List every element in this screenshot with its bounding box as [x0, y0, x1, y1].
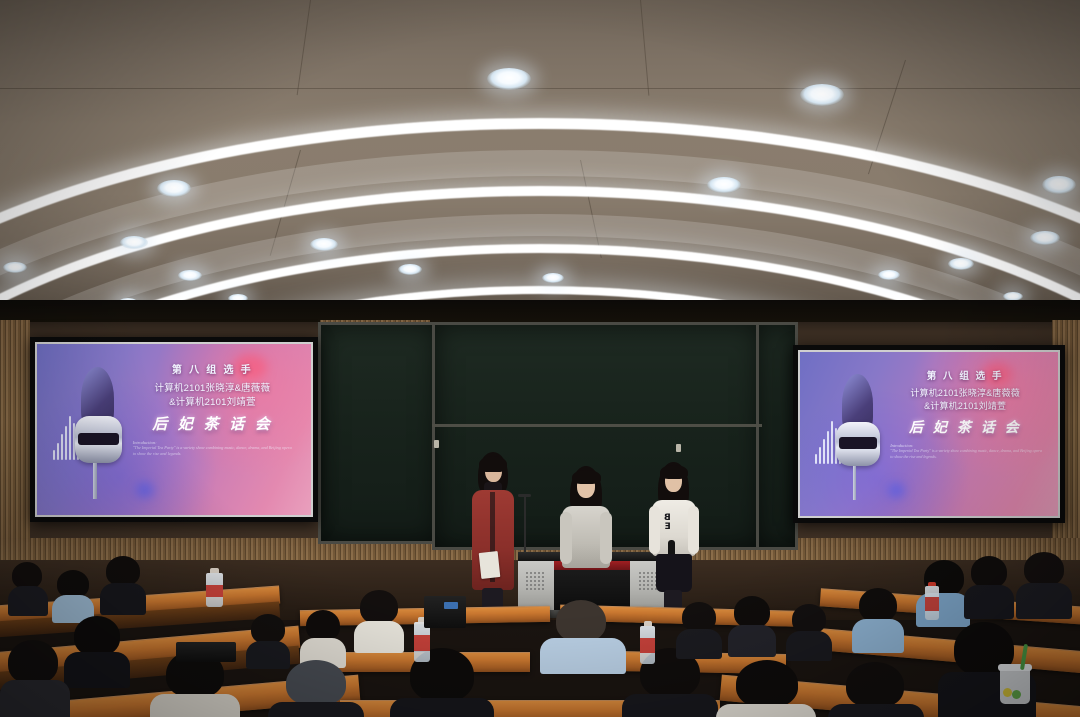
- ceiling: [0, 0, 1080, 312]
- presenter-center-arm: [560, 512, 572, 564]
- slide-calligraphy-title: 后 妃 茶 话 会: [122, 413, 303, 434]
- audience-member: [0, 640, 70, 717]
- bottle-cap: [928, 582, 936, 586]
- slide-heading: 第 八 组 选 手: [122, 361, 303, 376]
- recessed-downlight: [3, 262, 27, 273]
- bubble-tea-decal: [1003, 688, 1012, 697]
- slide-line-2: 计算机2101张晓淳&唐薇薇: [122, 380, 303, 394]
- audience-member: [964, 556, 1014, 618]
- wall-top-shadow-band: [0, 300, 1080, 322]
- water-bottle: [414, 622, 430, 662]
- bottle-label: [414, 635, 430, 651]
- presenter-right: BE: [648, 462, 700, 617]
- audience-body: [390, 698, 494, 717]
- presenter-right-sweater-graphic: BE: [664, 514, 671, 531]
- presenter-right-arm: [688, 506, 699, 554]
- slide-intro-body: "The Imperial Tea Party" is a variety sh…: [133, 445, 296, 457]
- audience-head: [286, 660, 346, 706]
- audience-body: [0, 680, 70, 717]
- speaker-box: [424, 596, 466, 628]
- lectern-vent: [525, 571, 546, 592]
- recessed-downlight: [487, 68, 531, 90]
- audience-member: [268, 660, 364, 717]
- audience-member: [828, 662, 924, 717]
- audience-body: [268, 702, 364, 717]
- audience-member: [676, 602, 722, 656]
- audience-head: [57, 570, 89, 598]
- recessed-downlight: [178, 270, 202, 281]
- audience-body: [676, 629, 722, 659]
- audience-head: [74, 616, 120, 656]
- audience-head: [106, 556, 140, 586]
- speaker-box: [176, 642, 236, 662]
- audience-member: [354, 590, 404, 650]
- slide-line-2: 计算机2101张晓淳&唐薇薇: [880, 386, 1050, 399]
- chalkboard-knob: [434, 440, 439, 448]
- recessed-downlight: [120, 236, 148, 249]
- presenter-left-script-paper: [479, 551, 501, 579]
- audience-member: [852, 588, 904, 650]
- audience-head: [306, 610, 340, 641]
- right-projection-screen[interactable]: 第 八 组 选 手 计算机2101张晓淳&唐薇薇 &计算机2101刘靖萱 后 妃…: [793, 345, 1065, 523]
- chalkboard-left: [318, 322, 440, 544]
- presenter-center-hair-fringe: [572, 470, 601, 484]
- recessed-downlight: [1042, 176, 1076, 194]
- audience-body: [786, 631, 832, 661]
- presenter-center-arm: [600, 512, 612, 564]
- bubble-tea-decal: [1012, 690, 1021, 699]
- audience-head: [792, 604, 826, 634]
- presenter-left-hair-front: [479, 456, 507, 472]
- audience-member: [390, 648, 494, 717]
- audience-head: [682, 602, 716, 632]
- recessed-downlight: [398, 264, 422, 275]
- recessed-downlight: [542, 273, 564, 283]
- audience-head: [556, 600, 606, 642]
- presenter-center: [558, 466, 614, 576]
- audience-body: [540, 638, 626, 674]
- audience-head: [971, 556, 1007, 588]
- presenter-right-arm: [649, 506, 660, 554]
- audience-member: [64, 616, 130, 686]
- audience-body: [8, 586, 48, 616]
- audience-body: [716, 704, 816, 717]
- audience-member: [786, 604, 832, 658]
- audience-head: [360, 590, 398, 624]
- audience-head: [8, 640, 58, 684]
- lecture-hall-photo: 第 八 组 选 手 计算机2101张晓淳&唐薇薇 &计算机2101刘靖萱 后 妃…: [0, 0, 1080, 717]
- audience-head: [859, 588, 897, 622]
- chalkboard-knob: [676, 444, 681, 452]
- recessed-downlight: [878, 270, 900, 280]
- slide-intro-body: "The Imperial Tea Party" is a variety sh…: [890, 448, 1043, 460]
- audience-member: [300, 610, 346, 666]
- water-bottle: [640, 626, 655, 664]
- bottle-label: [206, 585, 223, 597]
- audience-head: [1024, 552, 1064, 586]
- audience-member: [52, 570, 94, 620]
- slide-line-3: &计算机2101刘靖萱: [880, 399, 1050, 412]
- recessed-downlight: [948, 258, 974, 270]
- left-projection-screen[interactable]: 第 八 组 选 手 计算机2101张晓淳&唐薇薇 &计算机2101刘靖萱 后 妃…: [30, 337, 318, 522]
- audience-body: [622, 694, 718, 717]
- slide-line-3: &计算机2101刘靖萱: [122, 394, 303, 408]
- audience-member: [728, 596, 776, 654]
- audience-head: [736, 660, 798, 708]
- audience-head: [846, 662, 904, 708]
- recessed-downlight: [310, 238, 338, 251]
- audience-body: [828, 704, 924, 717]
- slide-calligraphy-title: 后 妃 茶 话 会: [880, 417, 1050, 437]
- audience-body: [1016, 583, 1072, 619]
- audience-member: [100, 556, 146, 614]
- audience-member-judge: [540, 600, 626, 672]
- chalkboard-right: [756, 322, 798, 550]
- audience-member: [246, 614, 290, 666]
- recessed-downlight: [800, 84, 844, 106]
- presenter-right-skirt: [656, 554, 692, 592]
- audience-head: [734, 596, 770, 628]
- bottle-label: [640, 638, 655, 653]
- presenter-left: [466, 452, 520, 620]
- audience-head: [12, 562, 42, 589]
- audience-body: [64, 652, 130, 688]
- water-bottle: [925, 586, 939, 620]
- audience-body: [728, 625, 776, 657]
- audience-body: [852, 619, 904, 653]
- gooseneck-microphone: [524, 497, 526, 553]
- recessed-downlight: [1030, 231, 1060, 245]
- recessed-downlight: [707, 177, 741, 193]
- water-bottle: [206, 573, 223, 607]
- bubble-tea-cup: [1000, 668, 1030, 704]
- slide-heading: 第 八 组 选 手: [880, 368, 1050, 382]
- speaker-badge: [444, 602, 458, 609]
- audience-body: [964, 585, 1014, 619]
- bubble-tea-lid: [998, 664, 1032, 671]
- audience-head: [251, 614, 285, 644]
- audience-body: [150, 694, 240, 717]
- chalkboard-rail: [432, 424, 762, 427]
- audience-body: [100, 583, 146, 615]
- audience-member: [1016, 552, 1072, 618]
- audience-member: [716, 660, 816, 717]
- recessed-downlight: [157, 180, 191, 197]
- audience-member: [8, 562, 48, 614]
- presenter-right-hair-fringe: [660, 465, 688, 479]
- bottle-label: [925, 597, 939, 611]
- bottle-cap: [644, 621, 652, 626]
- bottle-cap: [210, 568, 219, 573]
